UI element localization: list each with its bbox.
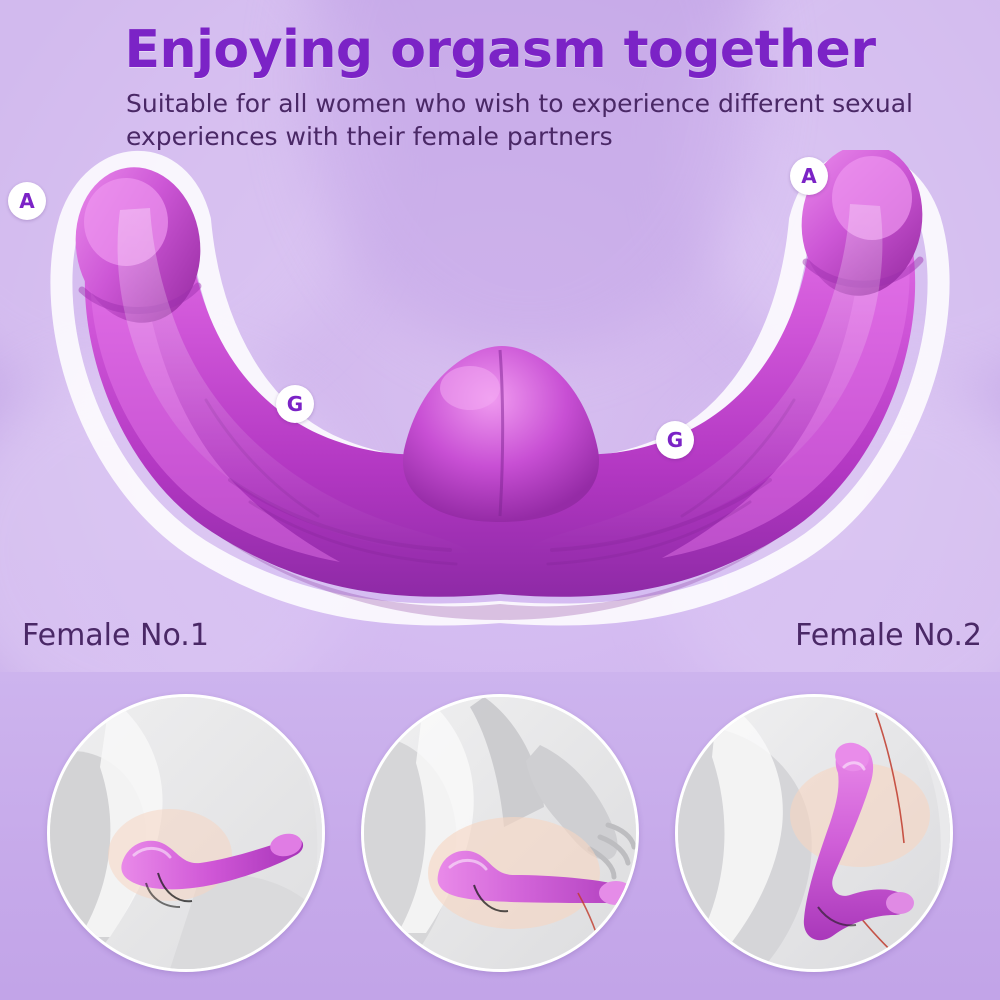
promo-banner: Enjoying orgasm together Suitable for al… bbox=[0, 0, 1000, 1000]
usage-scene-2 bbox=[361, 694, 639, 972]
marker-g-left: G bbox=[276, 385, 314, 423]
label-female-no-1: Female No.1 bbox=[22, 618, 209, 653]
page-title: Enjoying orgasm together bbox=[0, 20, 1000, 80]
label-female-no-2: Female No.2 bbox=[795, 618, 982, 653]
usage-scene-3 bbox=[675, 694, 953, 972]
marker-a-right: A bbox=[790, 157, 828, 195]
usage-scenes bbox=[0, 694, 1000, 990]
page-subtitle: Suitable for all women who wish to exper… bbox=[80, 88, 920, 153]
header: Enjoying orgasm together Suitable for al… bbox=[0, 20, 1000, 153]
marker-g-right: G bbox=[656, 421, 694, 459]
marker-a-left: A bbox=[8, 182, 46, 220]
product-illustration bbox=[0, 150, 1000, 650]
usage-scene-1 bbox=[47, 694, 325, 972]
